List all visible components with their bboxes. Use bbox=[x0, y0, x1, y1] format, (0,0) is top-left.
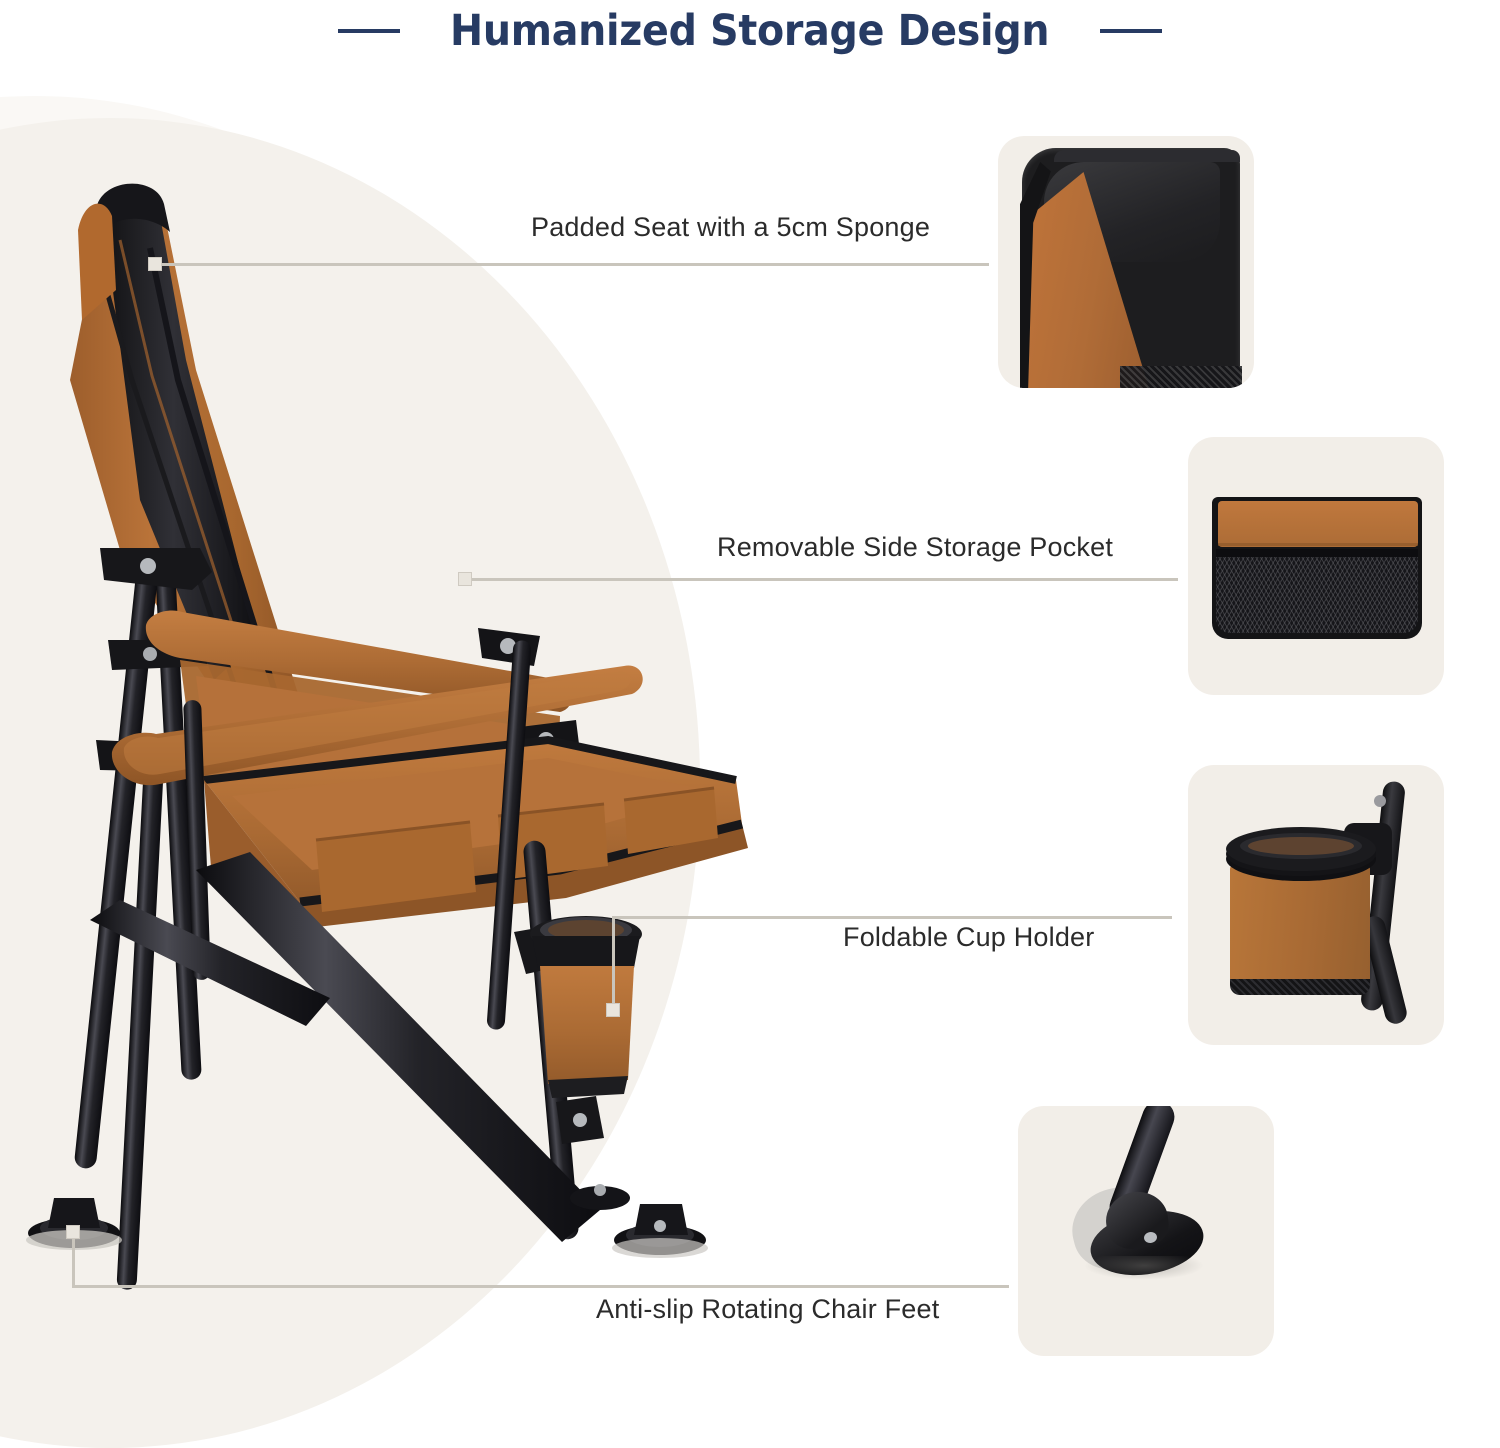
rotating-foot-closeup-image bbox=[1018, 1106, 1274, 1356]
leader-line-cup-holder-vertical bbox=[612, 916, 615, 1012]
cup-holder-closeup-image bbox=[1188, 765, 1444, 1045]
detail-card-storage-pocket bbox=[1188, 437, 1444, 695]
page-title: Humanized Storage Design bbox=[450, 6, 1049, 56]
leader-line-padded-seat bbox=[160, 263, 1000, 266]
rear-hinge-bracket bbox=[100, 548, 212, 590]
chair-foot-front-right bbox=[612, 1204, 708, 1258]
chair-foot-mid bbox=[570, 1184, 630, 1210]
leader-dot-padded-seat bbox=[148, 257, 162, 271]
callout-label-storage-pocket: Removable Side Storage Pocket bbox=[717, 532, 1113, 563]
rear-brace-rivet bbox=[143, 647, 157, 661]
detail-card-chair-feet bbox=[1018, 1106, 1274, 1356]
page-header: Humanized Storage Design bbox=[0, 0, 1500, 62]
callout-label-padded-seat: Padded Seat with a 5cm Sponge bbox=[531, 212, 930, 243]
leader-dot-cup-holder bbox=[606, 1003, 620, 1017]
detail-card-cup-holder bbox=[1188, 765, 1444, 1045]
padded-seat-closeup-image bbox=[998, 136, 1254, 388]
detail-card-padded-seat bbox=[998, 136, 1254, 388]
callout-label-chair-feet: Anti-slip Rotating Chair Feet bbox=[596, 1294, 939, 1325]
leader-dot-chair-feet bbox=[66, 1225, 80, 1239]
front-leg-mid-rivet bbox=[573, 1113, 587, 1127]
storage-pocket-closeup-image bbox=[1188, 437, 1444, 695]
title-rule-right bbox=[1100, 29, 1162, 33]
leader-dot-storage-pocket bbox=[458, 572, 472, 586]
rear-hinge-rivet bbox=[140, 558, 156, 574]
leader-line-cup-holder bbox=[612, 916, 1172, 919]
leader-line-chair-feet bbox=[72, 1285, 1020, 1288]
leader-line-chair-feet-vertical bbox=[72, 1232, 75, 1288]
title-rule-left bbox=[338, 29, 400, 33]
leader-line-storage-pocket bbox=[472, 578, 1178, 581]
callout-label-cup-holder: Foldable Cup Holder bbox=[843, 922, 1094, 953]
